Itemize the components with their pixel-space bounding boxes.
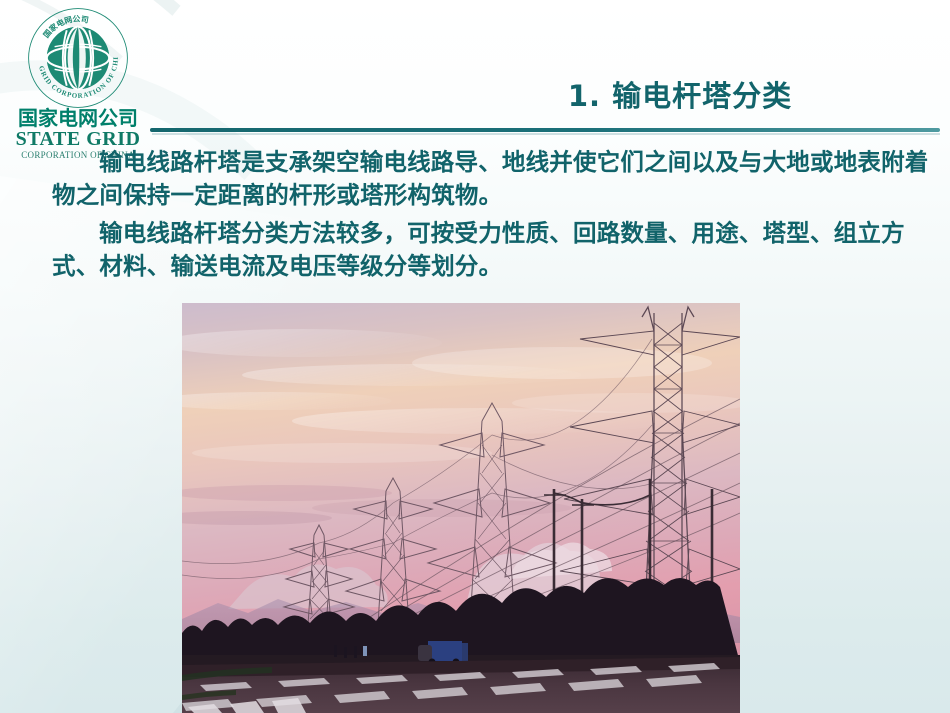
slide-title: 1. 输电杆塔分类	[430, 73, 930, 115]
transmission-line-photo	[182, 303, 740, 713]
slide-body: 输电线路杆塔是支承架空输电线路导、地线并使它们之间以及与大地或地表附着物之间保持…	[52, 146, 932, 288]
photo-artwork	[182, 303, 740, 713]
body-paragraph-1: 输电线路杆塔是支承架空输电线路导、地线并使它们之间以及与大地或地表附着物之间保持…	[52, 146, 932, 212]
logo-company-name-cn: 国家电网公司	[8, 108, 148, 129]
state-grid-globe-icon: 国家电网公司 GRID CORPORATION OF CHINA	[26, 6, 130, 110]
state-grid-logo: 国家电网公司 GRID CORPORATION OF CHINA 国家电网公司 …	[8, 6, 148, 161]
title-divider-shadow	[152, 133, 940, 135]
body-paragraph-2: 输电线路杆塔分类方法较多，可按受力性质、回路数量、用途、塔型、组立方式、材料、输…	[52, 217, 932, 283]
title-divider	[150, 128, 940, 132]
presentation-slide: 国家电网公司 GRID CORPORATION OF CHINA 国家电网公司 …	[0, 0, 950, 713]
